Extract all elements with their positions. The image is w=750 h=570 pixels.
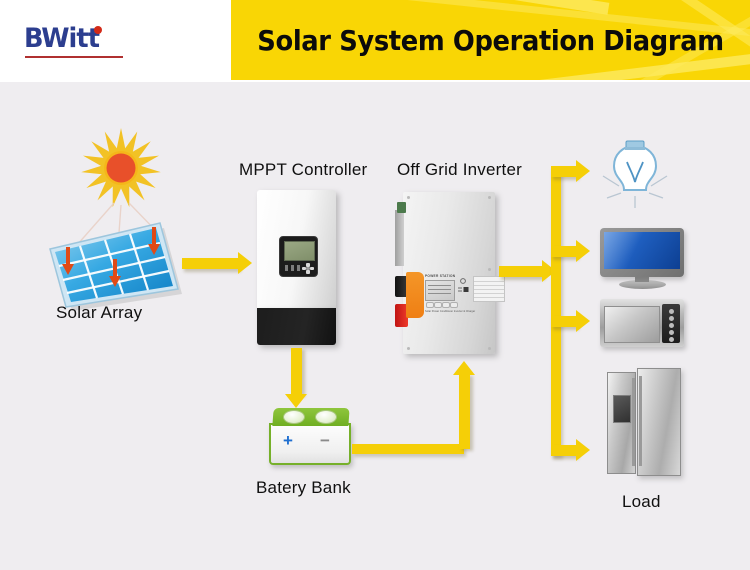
mppt-button-pad[interactable] <box>302 263 314 273</box>
title-banner: Solar System Operation Diagram <box>231 0 750 80</box>
lcd-line <box>428 293 451 294</box>
refrigerator-handle <box>632 378 635 466</box>
battery-bank-icon: + − <box>267 408 352 463</box>
mppt-key-right[interactable] <box>310 267 314 271</box>
flow-arrow-bus-to-light-bulb <box>551 166 577 177</box>
screw-icon <box>488 268 491 271</box>
inverter-side-vent <box>395 210 404 266</box>
mppt-key-left[interactable] <box>302 267 306 271</box>
spec-row <box>474 285 504 286</box>
battery-positive-symbol: + <box>283 432 293 449</box>
flow-arrow-battery-to-inverter-vertical <box>459 374 470 449</box>
refrigerator-icon <box>607 368 679 478</box>
screw-icon <box>488 196 491 199</box>
microwave-button[interactable] <box>669 337 674 342</box>
microwave-door <box>604 306 660 343</box>
mppt-base <box>257 308 336 345</box>
red-dot-icon <box>94 26 102 34</box>
light-bulb-icon <box>597 140 673 210</box>
lcd-line <box>428 285 451 286</box>
flow-arrow-bus-to-microwave <box>551 316 577 327</box>
mppt-led-indicator <box>291 265 294 271</box>
battery-body <box>269 423 351 465</box>
spec-row <box>474 293 504 294</box>
inverter-status-icons <box>457 278 470 300</box>
load-label: Load <box>622 492 661 512</box>
mppt-key-down[interactable] <box>306 270 310 274</box>
screw-icon <box>488 347 491 350</box>
brand-logo: BWitt <box>24 24 154 62</box>
microwave-button[interactable] <box>669 330 674 335</box>
tv-bezel <box>600 228 684 277</box>
page-header: BWitt Solar System Operation Diagram <box>0 0 750 82</box>
logo-underline <box>25 56 123 58</box>
mppt-lcd-screen <box>284 241 315 261</box>
solar-panel-icon <box>22 195 222 315</box>
refrigerator-handle <box>639 376 642 466</box>
inverter-button[interactable] <box>426 302 434 308</box>
water-dispenser-icon <box>613 395 631 423</box>
inverter-icon: POWER STATION Solar Power Conditioner In… <box>395 192 495 354</box>
battery-cell-cap <box>315 410 337 424</box>
microwave-button[interactable] <box>669 309 674 314</box>
inverter-green-terminal <box>397 202 406 213</box>
mppt-key-up[interactable] <box>306 263 310 267</box>
flow-arrow-solar-to-mppt <box>182 258 239 269</box>
inverter-button[interactable] <box>442 302 450 308</box>
microwave-control-panel[interactable] <box>662 304 680 343</box>
battery-cell-cap <box>283 410 305 424</box>
solar-system-operation-diagram: BWitt Solar System Operation Diagram <box>0 0 750 570</box>
inverter-spec-label <box>473 276 505 302</box>
microwave-button[interactable] <box>669 316 674 321</box>
inverter-button[interactable] <box>434 302 442 308</box>
screw-icon <box>407 347 410 350</box>
inverter-caption-text: Solar Power Conditioner Inverter & Charg… <box>425 310 475 313</box>
solar-array-label: Solar Array <box>56 303 142 323</box>
inverter-button[interactable] <box>450 302 458 308</box>
flow-arrow-bus-to-television <box>551 246 577 257</box>
tv-screen-glare <box>604 232 644 269</box>
refrigerator-fridge-door <box>637 368 681 476</box>
screw-icon <box>407 196 410 199</box>
mppt-led-indicator <box>285 265 288 271</box>
mppt-led-indicator <box>297 265 300 271</box>
microwave-icon <box>600 299 684 349</box>
mppt-controller-label: MPPT Controller <box>239 160 367 180</box>
battery-bank-label: Batery Bank <box>256 478 351 498</box>
mppt-controller-icon <box>257 190 336 345</box>
tv-icon <box>600 228 684 290</box>
flow-arrow-inverter-to-load-bus <box>499 266 543 277</box>
flow-arrow-bus-to-refrigerator <box>551 445 577 456</box>
page-title: Solar System Operation Diagram <box>252 0 729 80</box>
flow-path-battery-to-inverter-horizontal <box>352 444 464 454</box>
spec-row <box>474 297 504 298</box>
brand-logo-text: BWitt <box>24 24 99 54</box>
microwave-body <box>600 299 684 347</box>
battery-negative-symbol: − <box>320 432 330 449</box>
lcd-line <box>428 289 451 290</box>
mppt-display-panel <box>279 236 318 277</box>
inverter-lcd-screen <box>425 280 455 301</box>
spec-row <box>474 281 504 282</box>
load-distribution-bus <box>551 166 561 456</box>
flow-arrow-mppt-to-battery <box>291 348 302 395</box>
inverter-dc-cable <box>406 272 424 318</box>
inverter-faceplate-text: POWER STATION <box>425 274 455 278</box>
spec-row <box>474 289 504 290</box>
microwave-button[interactable] <box>669 323 674 328</box>
off-grid-inverter-label: Off Grid Inverter <box>397 160 522 180</box>
